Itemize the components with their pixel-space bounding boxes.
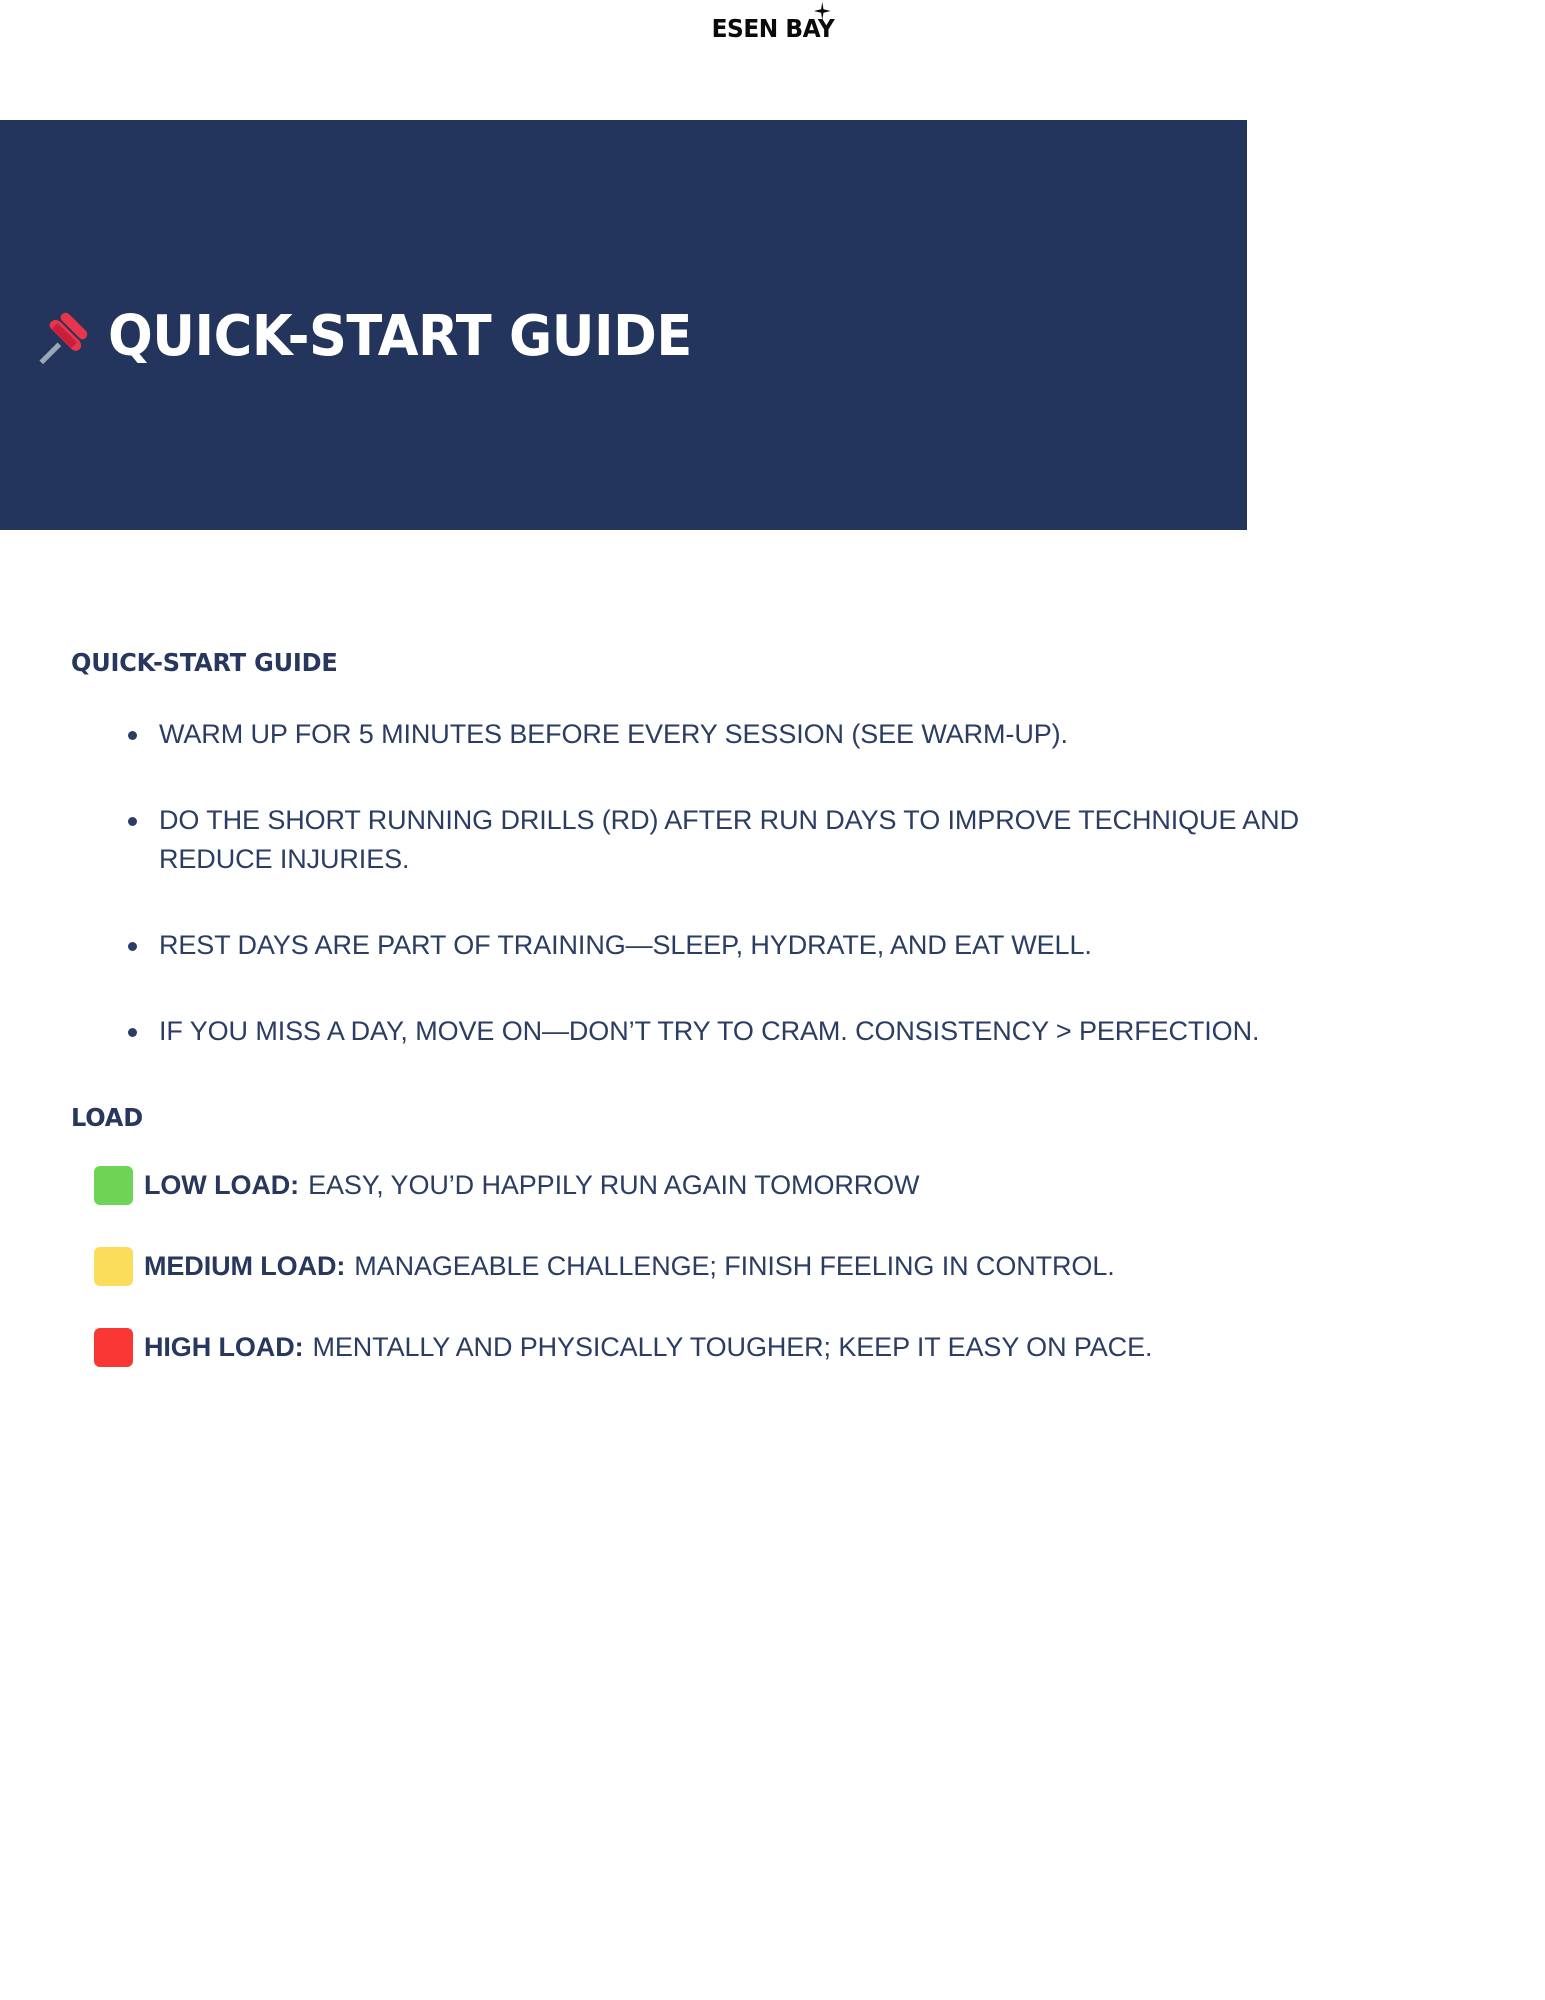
- load-level-label: LOW LOAD:: [144, 1168, 299, 1203]
- list-item: IF YOU MISS A DAY, MOVE ON—DON’T TRY TO …: [128, 1012, 1349, 1052]
- list-item: LOW LOAD: EASY, YOU’D HAPPILY RUN AGAIN …: [94, 1166, 1545, 1205]
- page-title: QUICK-START GUIDE: [108, 309, 692, 365]
- low-load-swatch: [94, 1166, 133, 1205]
- load-level-description: MANAGEABLE CHALLENGE; FINISH FEELING IN …: [354, 1249, 1114, 1284]
- brand-bar: ESEN BAY: [0, 0, 1545, 56]
- load-legend-list: LOW LOAD: EASY, YOU’D HAPPILY RUN AGAIN …: [0, 1166, 1545, 1367]
- list-item: REST DAYS ARE PART OF TRAINING—SLEEP, HY…: [128, 926, 1349, 966]
- sparkle-icon: [813, 2, 830, 20]
- quick-start-heading: QUICK-START GUIDE: [71, 648, 1486, 677]
- load-level-description: MENTALLY AND PHYSICALLY TOUGHER; KEEP IT…: [312, 1330, 1152, 1365]
- list-item: MEDIUM LOAD: MANAGEABLE CHALLENGE; FINIS…: [94, 1247, 1545, 1286]
- pushpin-icon: [34, 308, 92, 366]
- hero-title-row: QUICK-START GUIDE: [34, 308, 729, 366]
- medium-load-swatch: [94, 1247, 133, 1286]
- main-content: QUICK-START GUIDE WARM UP FOR 5 MINUTES …: [0, 648, 1545, 1409]
- brand-logo: ESEN BAY: [711, 14, 834, 43]
- hero-banner: QUICK-START GUIDE: [0, 120, 1247, 530]
- load-level-description: EASY, YOU’D HAPPILY RUN AGAIN TOMORROW: [308, 1168, 919, 1203]
- list-item: HIGH LOAD: MENTALLY AND PHYSICALLY TOUGH…: [94, 1328, 1545, 1367]
- load-heading: LOAD: [71, 1103, 1486, 1132]
- quick-start-bullet-list: WARM UP FOR 5 MINUTES BEFORE EVERY SESSI…: [0, 715, 1545, 1051]
- list-item: WARM UP FOR 5 MINUTES BEFORE EVERY SESSI…: [128, 715, 1349, 755]
- load-level-label: MEDIUM LOAD:: [144, 1249, 345, 1284]
- list-item: DO THE SHORT RUNNING DRILLS (RD) AFTER R…: [128, 801, 1349, 880]
- high-load-swatch: [94, 1328, 133, 1367]
- load-level-label: HIGH LOAD:: [144, 1330, 303, 1365]
